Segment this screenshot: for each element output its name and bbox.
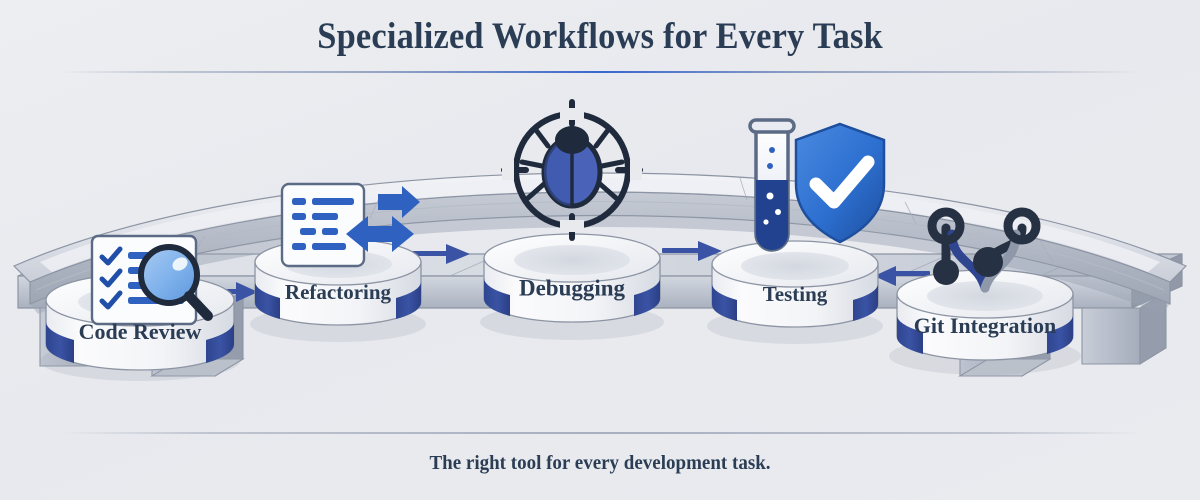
pedestal-inset [514, 245, 630, 275]
title-bar: Specialized Workflows for Every Task [0, 0, 1200, 72]
test-tube-glyph [750, 120, 794, 250]
workflow-arch-diagram: Code Review [0, 76, 1200, 426]
footer-divider [60, 432, 1140, 434]
title-divider [60, 71, 1140, 73]
pedestal-inset [741, 252, 849, 280]
node-label: Code Review [79, 319, 202, 344]
git-node-filled [973, 247, 1003, 277]
page-title: Specialized Workflows for Every Task [317, 15, 883, 58]
node-label: Git Integration [914, 313, 1056, 338]
checklist-magnifier-icon [92, 236, 208, 324]
illustration-canvas: Specialized Workflows for Every Task [0, 0, 1200, 500]
node-label: Refactoring [285, 280, 392, 304]
node-label: Testing [763, 282, 828, 306]
git-node-filled [933, 259, 959, 285]
node-label: Debugging [519, 275, 626, 300]
footer-caption: The right tool for every development tas… [30, 452, 1170, 475]
